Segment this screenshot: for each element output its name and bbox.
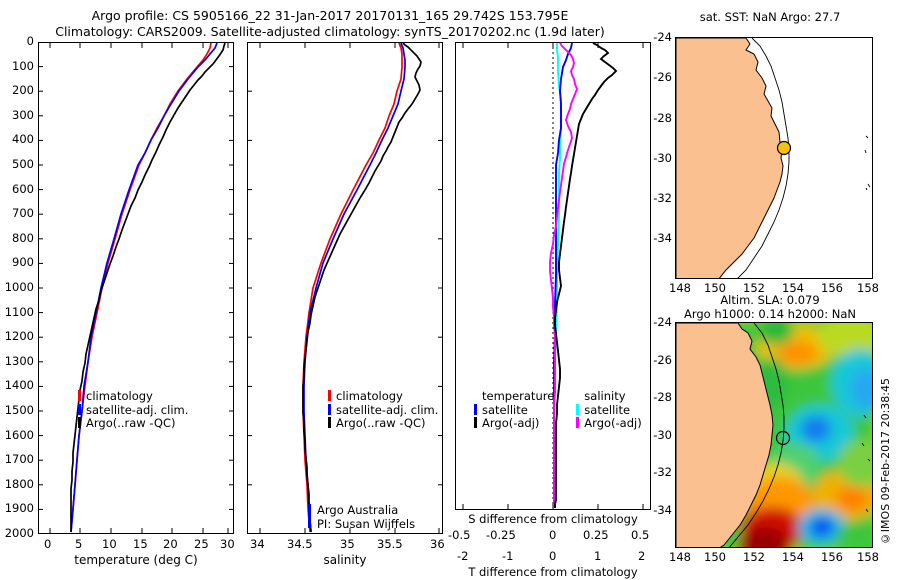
legend-swatch-satellite-adj	[78, 404, 81, 415]
panel-difference-xtick-labels-top: -0.5 -0.25 0 0.25 0.5	[455, 528, 651, 542]
map-sla-xtick-labels: 148 150 152 154 156 158	[675, 550, 873, 564]
legend-group-temperature: temperature satellite Argo(-adj)	[474, 390, 554, 431]
panel-salinity-legend: climatology satellite-adj. clim. Argo(..…	[328, 390, 438, 431]
legend-item-salinity-satellite-adj: satellite-adj. clim.	[328, 404, 438, 418]
legend-item-sal-satellite: satellite	[576, 404, 641, 418]
panel-difference-xlabel-bottom: T difference from climatology	[448, 565, 658, 579]
legend-swatch-temp-satellite	[474, 404, 477, 415]
map-sst	[675, 37, 873, 279]
legend-label-salinity-argo: Argo(..raw -QC)	[336, 416, 426, 430]
figure-title-line-1: Argo profile: CS 5905166_22 31-Jan-2017 …	[0, 8, 660, 24]
legend-swatch-climatology	[78, 390, 81, 401]
salinity-argo-curve	[303, 43, 421, 532]
legend-item-sal-argo: Argo(-adj)	[576, 417, 641, 431]
figure-title: Argo profile: CS 5905166_22 31-Jan-2017 …	[0, 8, 660, 40]
legend-label-climatology: climatology	[86, 389, 153, 403]
legend-label-temp-argo: Argo(-adj)	[482, 416, 539, 430]
legend-label-sal-argo: Argo(-adj)	[584, 416, 641, 430]
panel-temperature-xlabel: temperature (deg C)	[38, 553, 234, 567]
map-sla	[675, 322, 873, 548]
panel-difference-xtick-labels-bottom: -2 -1 0 1 2	[455, 549, 651, 563]
map-sla-canvas	[676, 323, 873, 548]
difference-salinity-argo-curve	[550, 43, 577, 508]
panel-salinity-xlabel: salinity	[247, 553, 443, 567]
argo-attribution: Argo Australia PI: Susan Wijffels	[317, 503, 415, 531]
panel-temperature-xtick-labels: 0 5 10 15 20 25 30	[38, 537, 234, 551]
map-sst-canvas	[676, 38, 873, 279]
map-sst-title: sat. SST: NaN Argo: 27.7	[660, 10, 880, 24]
legend-item-satellite-adj: satellite-adj. clim.	[78, 404, 188, 418]
map-sla-title-line-1: Altim. SLA: 0.079	[660, 293, 880, 307]
panel-difference-xlabel-top: S difference from climatology	[448, 512, 658, 526]
attribution-line-1: Argo Australia	[317, 503, 398, 517]
temperature-argo-curve	[71, 43, 225, 532]
legend-heading-salinity: salinity	[576, 390, 641, 404]
panel-difference-legend: temperature satellite Argo(-adj) salinit…	[474, 390, 642, 431]
legend-swatch-temp-argo	[474, 417, 477, 428]
legend-label-satellite-adj: satellite-adj. clim.	[86, 403, 188, 417]
map-sla-title-line-2: Argo h1000: 0.14 h2000: NaN	[660, 307, 880, 321]
legend-swatch-sal-argo	[576, 417, 579, 428]
temperature-satellite-adj-curve	[71, 43, 217, 532]
profile-location-marker	[778, 142, 791, 155]
difference-temperature-argo-curve	[555, 43, 616, 508]
imos-credit: ©IMOS 09-Feb-2017 20:38:45	[879, 378, 892, 545]
panel-salinity-plot	[247, 42, 443, 534]
legend-item-argo: Argo(..raw -QC)	[78, 417, 188, 431]
legend-swatch-salinity-climatology	[328, 390, 331, 401]
map-sla-title: Altim. SLA: 0.079 Argo h1000: 0.14 h2000…	[660, 293, 880, 321]
panel-salinity-xtick-labels: 34 34.5 35 35.5 36	[247, 537, 443, 551]
panel-temperature-plot	[38, 42, 234, 534]
map-sst-ytick-labels: -24 -26 -28 -30 -32 -34	[642, 30, 672, 272]
legend-swatch-argo	[78, 417, 81, 428]
panel-difference-plot	[455, 42, 651, 510]
legend-label-temp-satellite: satellite	[482, 403, 528, 417]
legend-label-salinity-satellite-adj: satellite-adj. clim.	[336, 403, 438, 417]
legend-item-temp-satellite: satellite	[474, 404, 554, 418]
legend-label-salinity-climatology: climatology	[336, 389, 403, 403]
legend-item-climatology: climatology	[78, 390, 188, 404]
attribution-swatch	[308, 504, 311, 528]
legend-swatch-salinity-satellite-adj	[328, 404, 331, 415]
temperature-climatology-curve	[71, 43, 211, 532]
legend-group-salinity: salinity satellite Argo(-adj)	[576, 390, 641, 431]
legend-item-salinity-climatology: climatology	[328, 390, 438, 404]
legend-item-temp-argo: Argo(-adj)	[474, 417, 554, 431]
legend-label-sal-satellite: satellite	[584, 403, 630, 417]
legend-label-argo: Argo(..raw -QC)	[86, 416, 176, 430]
map-sla-ytick-labels: -24 -26 -28 -30 -32 -34	[642, 315, 672, 541]
legend-heading-temperature: temperature	[474, 390, 554, 404]
attribution-line-2: PI: Susan Wijffels	[317, 517, 415, 531]
legend-item-salinity-argo: Argo(..raw -QC)	[328, 417, 438, 431]
panel-temperature-legend: climatology satellite-adj. clim. Argo(..…	[78, 390, 188, 431]
legend-swatch-sal-satellite	[576, 404, 579, 415]
legend-swatch-salinity-argo	[328, 417, 331, 428]
salinity-satellite-adj-curve	[304, 43, 405, 532]
figure-title-line-2: Climatology: CARS2009. Satellite-adjuste…	[0, 24, 660, 40]
panel-temperature-ytick-labels: 0 100 200 300 400 500 600 700 800 900 10…	[0, 34, 34, 550]
